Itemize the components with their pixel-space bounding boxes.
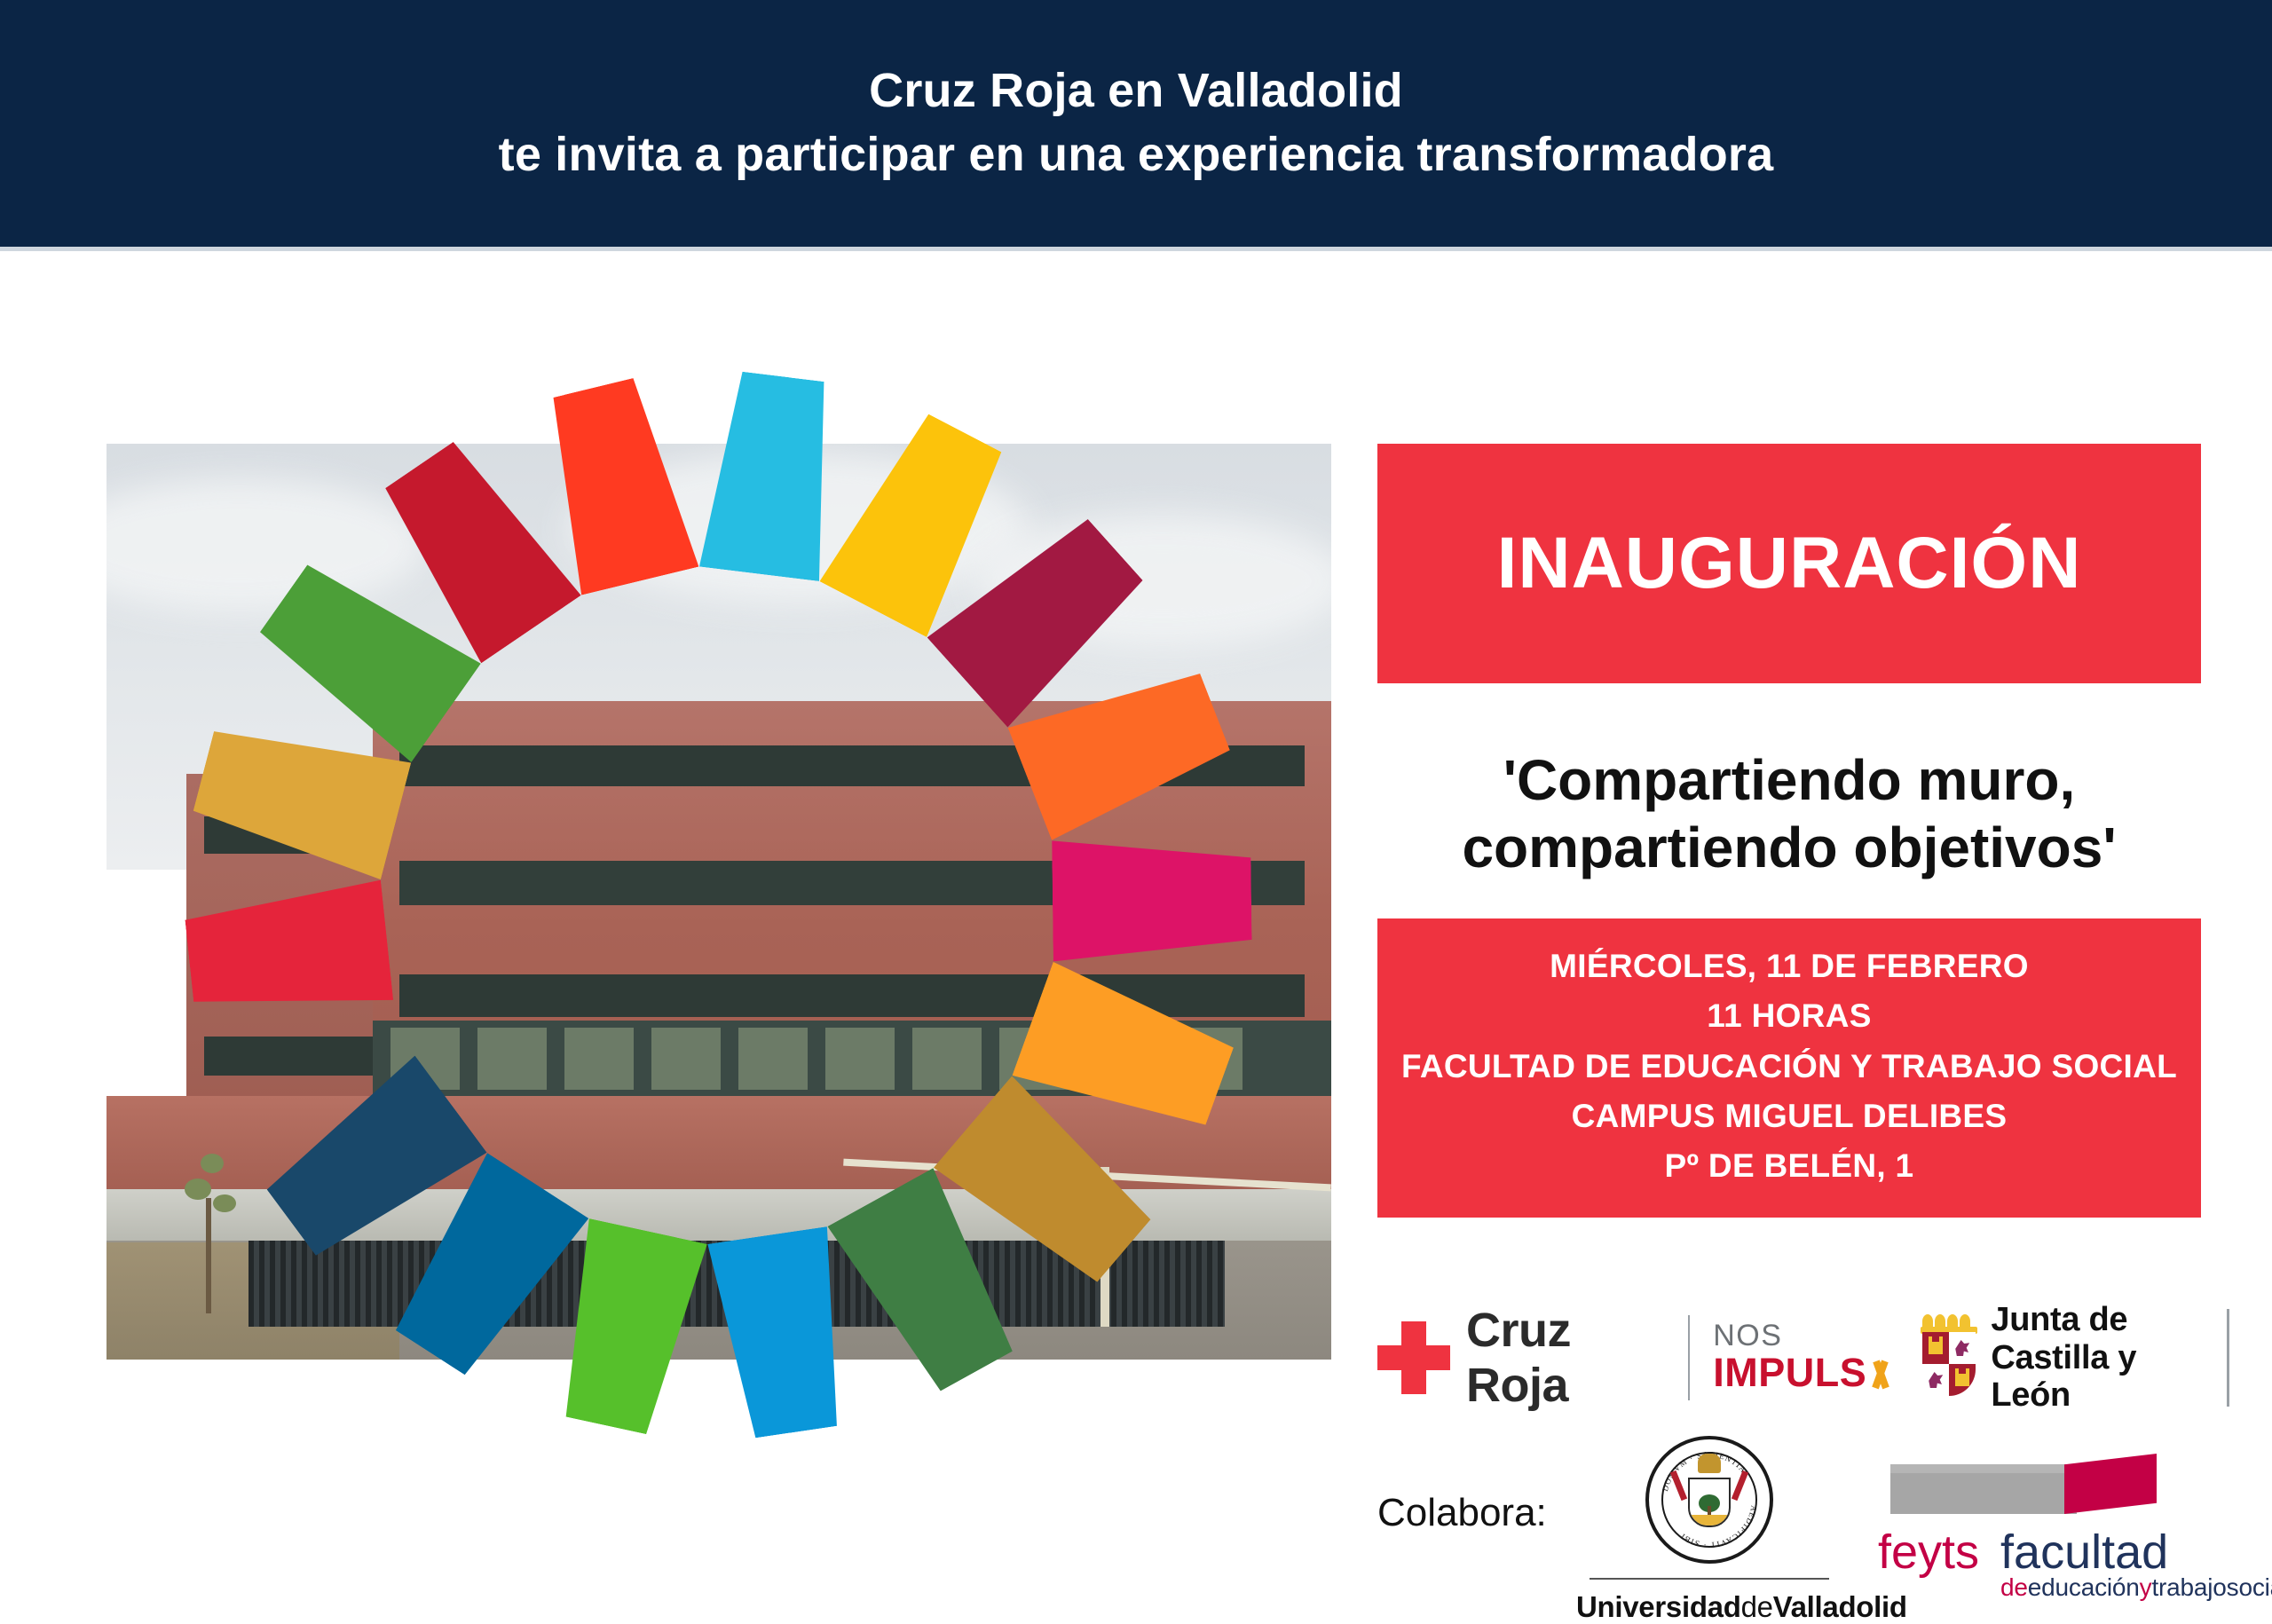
sponsor-logo-strip: Cruz Roja NOS IMPULS Junta de Castilla y… — [1377, 1291, 2229, 1424]
collaborators-row: Colabora: DOMVM · SAPIENTIA AEDIFICAVIT … — [1377, 1436, 2265, 1623]
uva-rule — [1590, 1578, 1829, 1580]
chevron-a-icon — [1868, 1360, 1881, 1386]
uva-name-bold1: Universidad — [1576, 1590, 1741, 1623]
header-underline — [0, 247, 2272, 251]
feyts-block-icon — [1890, 1454, 2157, 1525]
nos-impulsa-line2-wrap: IMPULS — [1713, 1351, 1881, 1395]
feyts-logo: feyts facultad deeducaciónytrabajosocial — [1878, 1454, 2260, 1600]
feyts-text: feyts — [1878, 1530, 1979, 1575]
detail-date: MIÉRCOLES, 11 DE FEBRERO — [1377, 942, 2201, 991]
junta-line2: Castilla y León — [1991, 1339, 2200, 1415]
visual-composition — [106, 444, 1331, 1360]
nos-impulsa-line2: IMPULS — [1713, 1351, 1866, 1395]
coat-of-arms-icon — [1912, 1309, 1978, 1407]
junta-line1: Junta de — [1991, 1301, 2200, 1339]
header-title-line1: Cruz Roja en Valladolid — [869, 59, 1403, 123]
feyts-sub-trabajosocial: trabajosocial — [2151, 1573, 2272, 1601]
event-subtitle: 'Compartiendo muro, compartiendo objetiv… — [1377, 747, 2201, 881]
feyts-sub-educacion: educación — [2028, 1573, 2140, 1601]
uva-seal-icon: DOMVM · SAPIENTIA AEDIFICAVIT · SIBI — [1645, 1436, 1773, 1564]
feyts-subline: deeducaciónytrabajosocial — [2000, 1573, 2272, 1601]
logo-divider-right — [2227, 1309, 2229, 1407]
junta-wordmark: Junta de Castilla y León — [1991, 1301, 2200, 1415]
logo-divider — [1688, 1315, 1691, 1400]
detail-time: 11 HORAS — [1377, 991, 2201, 1041]
inauguration-banner: INAUGURACIÓN — [1377, 444, 2201, 683]
nos-impulsa-logo: NOS IMPULS — [1713, 1320, 1881, 1395]
subtitle-line-1: 'Compartiendo muro, — [1377, 747, 2201, 815]
event-info-column: INAUGURACIÓN 'Compartiendo muro, compart… — [1377, 444, 2201, 1218]
detail-campus: CAMPUS MIGUEL DELIBES — [1377, 1092, 2201, 1141]
detail-venue: FACULTAD DE EDUCACIÓN Y TRABAJO SOCIAL — [1377, 1042, 2201, 1092]
subtitle-line-2: compartiendo objetivos' — [1377, 815, 2201, 882]
feyts-wordmark: feyts facultad deeducaciónytrabajosocial — [1878, 1530, 2260, 1600]
junta-castilla-leon-logo: Junta de Castilla y León — [1912, 1301, 2200, 1415]
feyts-sub-y: y — [2140, 1573, 2152, 1601]
uva-wordmark: UniversidaddeValladolid — [1576, 1590, 1842, 1624]
colabora-label: Colabora: — [1377, 1491, 1564, 1535]
cruz-roja-wordmark: Cruz Roja — [1466, 1303, 1665, 1413]
detail-address: Pº DE BELÉN, 1 — [1377, 1141, 2201, 1191]
nos-impulsa-line1: NOS — [1713, 1320, 1881, 1351]
feyts-facultad: facultad — [2000, 1530, 2272, 1575]
event-details-box: MIÉRCOLES, 11 DE FEBRERO 11 HORAS FACULT… — [1377, 918, 2201, 1218]
poster-header: Cruz Roja en Valladolid te invita a part… — [0, 0, 2272, 247]
red-cross-icon — [1377, 1321, 1443, 1394]
cruz-roja-logo: Cruz Roja — [1377, 1303, 1665, 1413]
crown-icon — [1921, 1309, 1977, 1334]
inauguration-label: INAUGURACIÓN — [1497, 522, 2082, 605]
universidad-valladolid-logo: DOMVM · SAPIENTIA AEDIFICAVIT · SIBI Uni… — [1576, 1436, 1842, 1624]
feyts-sub-de: de — [2000, 1573, 2028, 1601]
header-title-line2: te invita a participar en una experienci… — [499, 123, 1774, 187]
uva-name-light: de — [1741, 1590, 1773, 1623]
sdg-color-wheel — [106, 319, 1331, 1491]
